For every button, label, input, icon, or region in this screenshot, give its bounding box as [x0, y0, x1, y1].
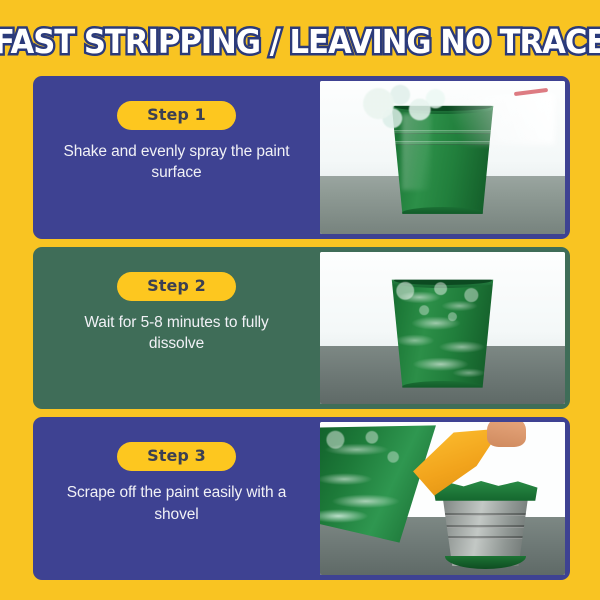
metal-bucket-ring [441, 525, 529, 528]
step-card-2: Step 2 Wait for 5-8 minutes to fully dis… [33, 247, 570, 410]
bare-metal-bucket [435, 486, 535, 565]
step-2-badge: Step 2 [117, 272, 236, 301]
spray-mist [418, 93, 555, 145]
step-3-description: Scrape off the paint easily with a shove… [57, 482, 297, 525]
green-bucket-shape [384, 280, 502, 388]
step-3-badge: Step 3 [117, 442, 236, 471]
title-banner: FAST STRIPPING / LEAVING NO TRACE [0, 17, 600, 65]
hand [487, 422, 526, 446]
step-1-text-block: Step 1 Shake and evenly spray the paint … [33, 76, 320, 239]
page-title: FAST STRIPPING / LEAVING NO TRACE [0, 25, 600, 58]
step-card-1: Step 1 Shake and evenly spray the paint … [33, 76, 570, 239]
step-card-3: Step 3 Scrape off the paint easily with … [33, 417, 570, 580]
steps-list: Step 1 Shake and evenly spray the paint … [33, 76, 570, 580]
metal-bucket-ring [441, 536, 529, 539]
step-3-text-block: Step 3 Scrape off the paint easily with … [33, 417, 320, 580]
metal-bucket-ring [441, 513, 529, 516]
scraping-paint-off-bucket-photo [320, 422, 565, 575]
infographic-poster: FAST STRIPPING / LEAVING NO TRACE Step 1… [0, 0, 600, 600]
spraying-green-bucket-photo [320, 81, 565, 234]
step-1-badge: Step 1 [117, 101, 236, 130]
step-2-description: Wait for 5-8 minutes to fully dissolve [57, 312, 297, 355]
blistered-paint-texture [384, 280, 502, 388]
blistered-paint-bucket-photo [320, 252, 565, 405]
step-2-text-block: Step 2 Wait for 5-8 minutes to fully dis… [33, 247, 320, 410]
step-1-description: Shake and evenly spray the paint surface [57, 141, 297, 184]
